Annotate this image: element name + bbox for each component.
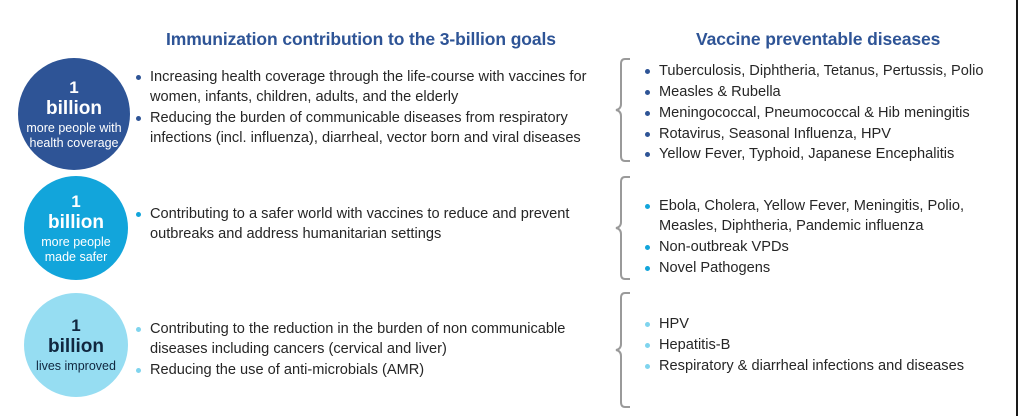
list-item: Ebola, Cholera, Yellow Fever, Meningitis… [645,197,995,237]
tier-number: 1 [71,316,80,335]
list-item: Hepatitis-B [645,336,995,356]
list-item: Tuberculosis, Diphtheria, Tetanus, Pertu… [645,62,995,82]
list-item: Reducing the burden of communicable dise… [136,109,602,149]
tier-number: 1 [69,78,78,97]
tier-circle-lives-improved: 1 billion lives improved [24,293,128,397]
goals-list-tier-1: Increasing health coverage through the l… [136,68,602,149]
list-item: Non-outbreak VPDs [645,238,995,258]
list-item: Measles & Rubella [645,83,995,103]
column-header-diseases: Vaccine preventable diseases [696,29,940,50]
curly-brace-tier-1 [614,58,632,162]
list-item: Respiratory & diarrheal infections and d… [645,357,995,377]
curly-brace-tier-2 [614,176,632,280]
curly-brace-tier-3 [614,292,632,408]
tier-unit: billion [48,212,104,233]
diseases-list-tier-3: HPV Hepatitis-B Respiratory & diarrheal … [645,315,995,378]
list-item: Increasing health coverage through the l… [136,68,602,108]
tier-unit: billion [46,98,102,119]
list-item: Contributing to a safer world with vacci… [136,205,602,245]
list-item: Yellow Fever, Typhoid, Japanese Encephal… [645,145,995,165]
list-item: Novel Pathogens [645,259,995,279]
goals-list-tier-3: Contributing to the reduction in the bur… [136,320,602,382]
list-item: Reducing the use of anti-microbials (AMR… [136,361,602,381]
tier-subtitle: more people made safer [24,235,128,265]
tier-subtitle: more people with health coverage [18,121,130,151]
list-item: Rotavirus, Seasonal Influenza, HPV [645,125,995,145]
tier-circle-health-coverage: 1 billion more people with health covera… [18,58,130,170]
immunization-infographic: Immunization contribution to the 3-billi… [0,0,1018,416]
column-header-goals: Immunization contribution to the 3-billi… [166,29,556,50]
list-item: Contributing to the reduction in the bur… [136,320,602,360]
list-item: HPV [645,315,995,335]
tier-subtitle: lives improved [30,359,122,374]
goals-list-tier-2: Contributing to a safer world with vacci… [136,205,602,246]
tier-unit: billion [48,336,104,357]
tier-circle-made-safer: 1 billion more people made safer [24,176,128,280]
diseases-list-tier-2: Ebola, Cholera, Yellow Fever, Meningitis… [645,197,995,279]
diseases-list-tier-1: Tuberculosis, Diphtheria, Tetanus, Pertu… [645,62,995,166]
tier-number: 1 [71,192,80,211]
list-item: Meningococcal, Pneumococcal & Hib mening… [645,104,995,124]
